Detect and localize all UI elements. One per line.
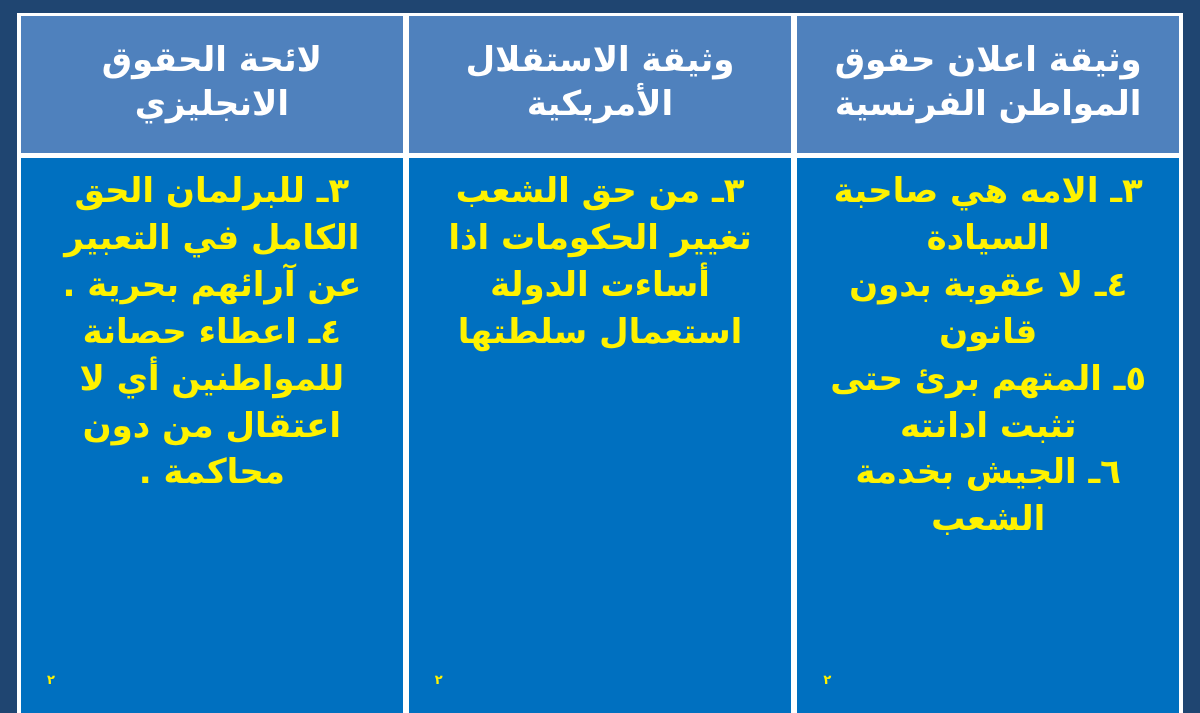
cell-text-american-declaration: ٣ـ من حق الشعب تغيير الحكومات اذا أساءت …	[425, 168, 776, 356]
table-cell-american-declaration: ٣ـ من حق الشعب تغيير الحكومات اذا أساءت …	[406, 158, 795, 713]
column-header-english-bill-of-rights: لائحة الحقوق الانجليزي	[17, 13, 406, 158]
column-header-french-declaration: وثيقة اعلان حقوق المواطن الفرنسية	[794, 13, 1183, 158]
column-header-american-declaration: وثيقة الاستقلال الأمريكية	[406, 13, 795, 158]
cell-text-english-bill-of-rights: ٣ـ للبرلمان الحق الكامل في التعبير عن آر…	[37, 168, 387, 496]
comparison-table: وثيقة اعلان حقوق المواطن الفرنسية وثيقة …	[17, 13, 1183, 713]
slide-canvas: وثيقة اعلان حقوق المواطن الفرنسية وثيقة …	[0, 0, 1200, 675]
table-header: وثيقة اعلان حقوق المواطن الفرنسية وثيقة …	[17, 13, 1183, 158]
table-cell-english-bill-of-rights: ٣ـ للبرلمان الحق الكامل في التعبير عن آر…	[17, 158, 406, 713]
comparison-table-wrapper: وثيقة اعلان حقوق المواطن الفرنسية وثيقة …	[17, 13, 1183, 713]
table-row: ٣ـ الامه هي صاحبة السيادة ٤ـ لا عقوبة بد…	[17, 158, 1183, 713]
table-header-row: وثيقة اعلان حقوق المواطن الفرنسية وثيقة …	[17, 13, 1183, 158]
mini-mark-american-column: ٢	[435, 674, 443, 687]
table-cell-french-declaration: ٣ـ الامه هي صاحبة السيادة ٤ـ لا عقوبة بد…	[794, 158, 1183, 713]
cell-text-french-declaration: ٣ـ الامه هي صاحبة السيادة ٤ـ لا عقوبة بد…	[813, 168, 1163, 543]
mini-mark-english-column: ٢	[47, 674, 55, 687]
table-body: ٣ـ الامه هي صاحبة السيادة ٤ـ لا عقوبة بد…	[17, 158, 1183, 713]
mini-mark-french-column: ٢	[823, 674, 831, 687]
